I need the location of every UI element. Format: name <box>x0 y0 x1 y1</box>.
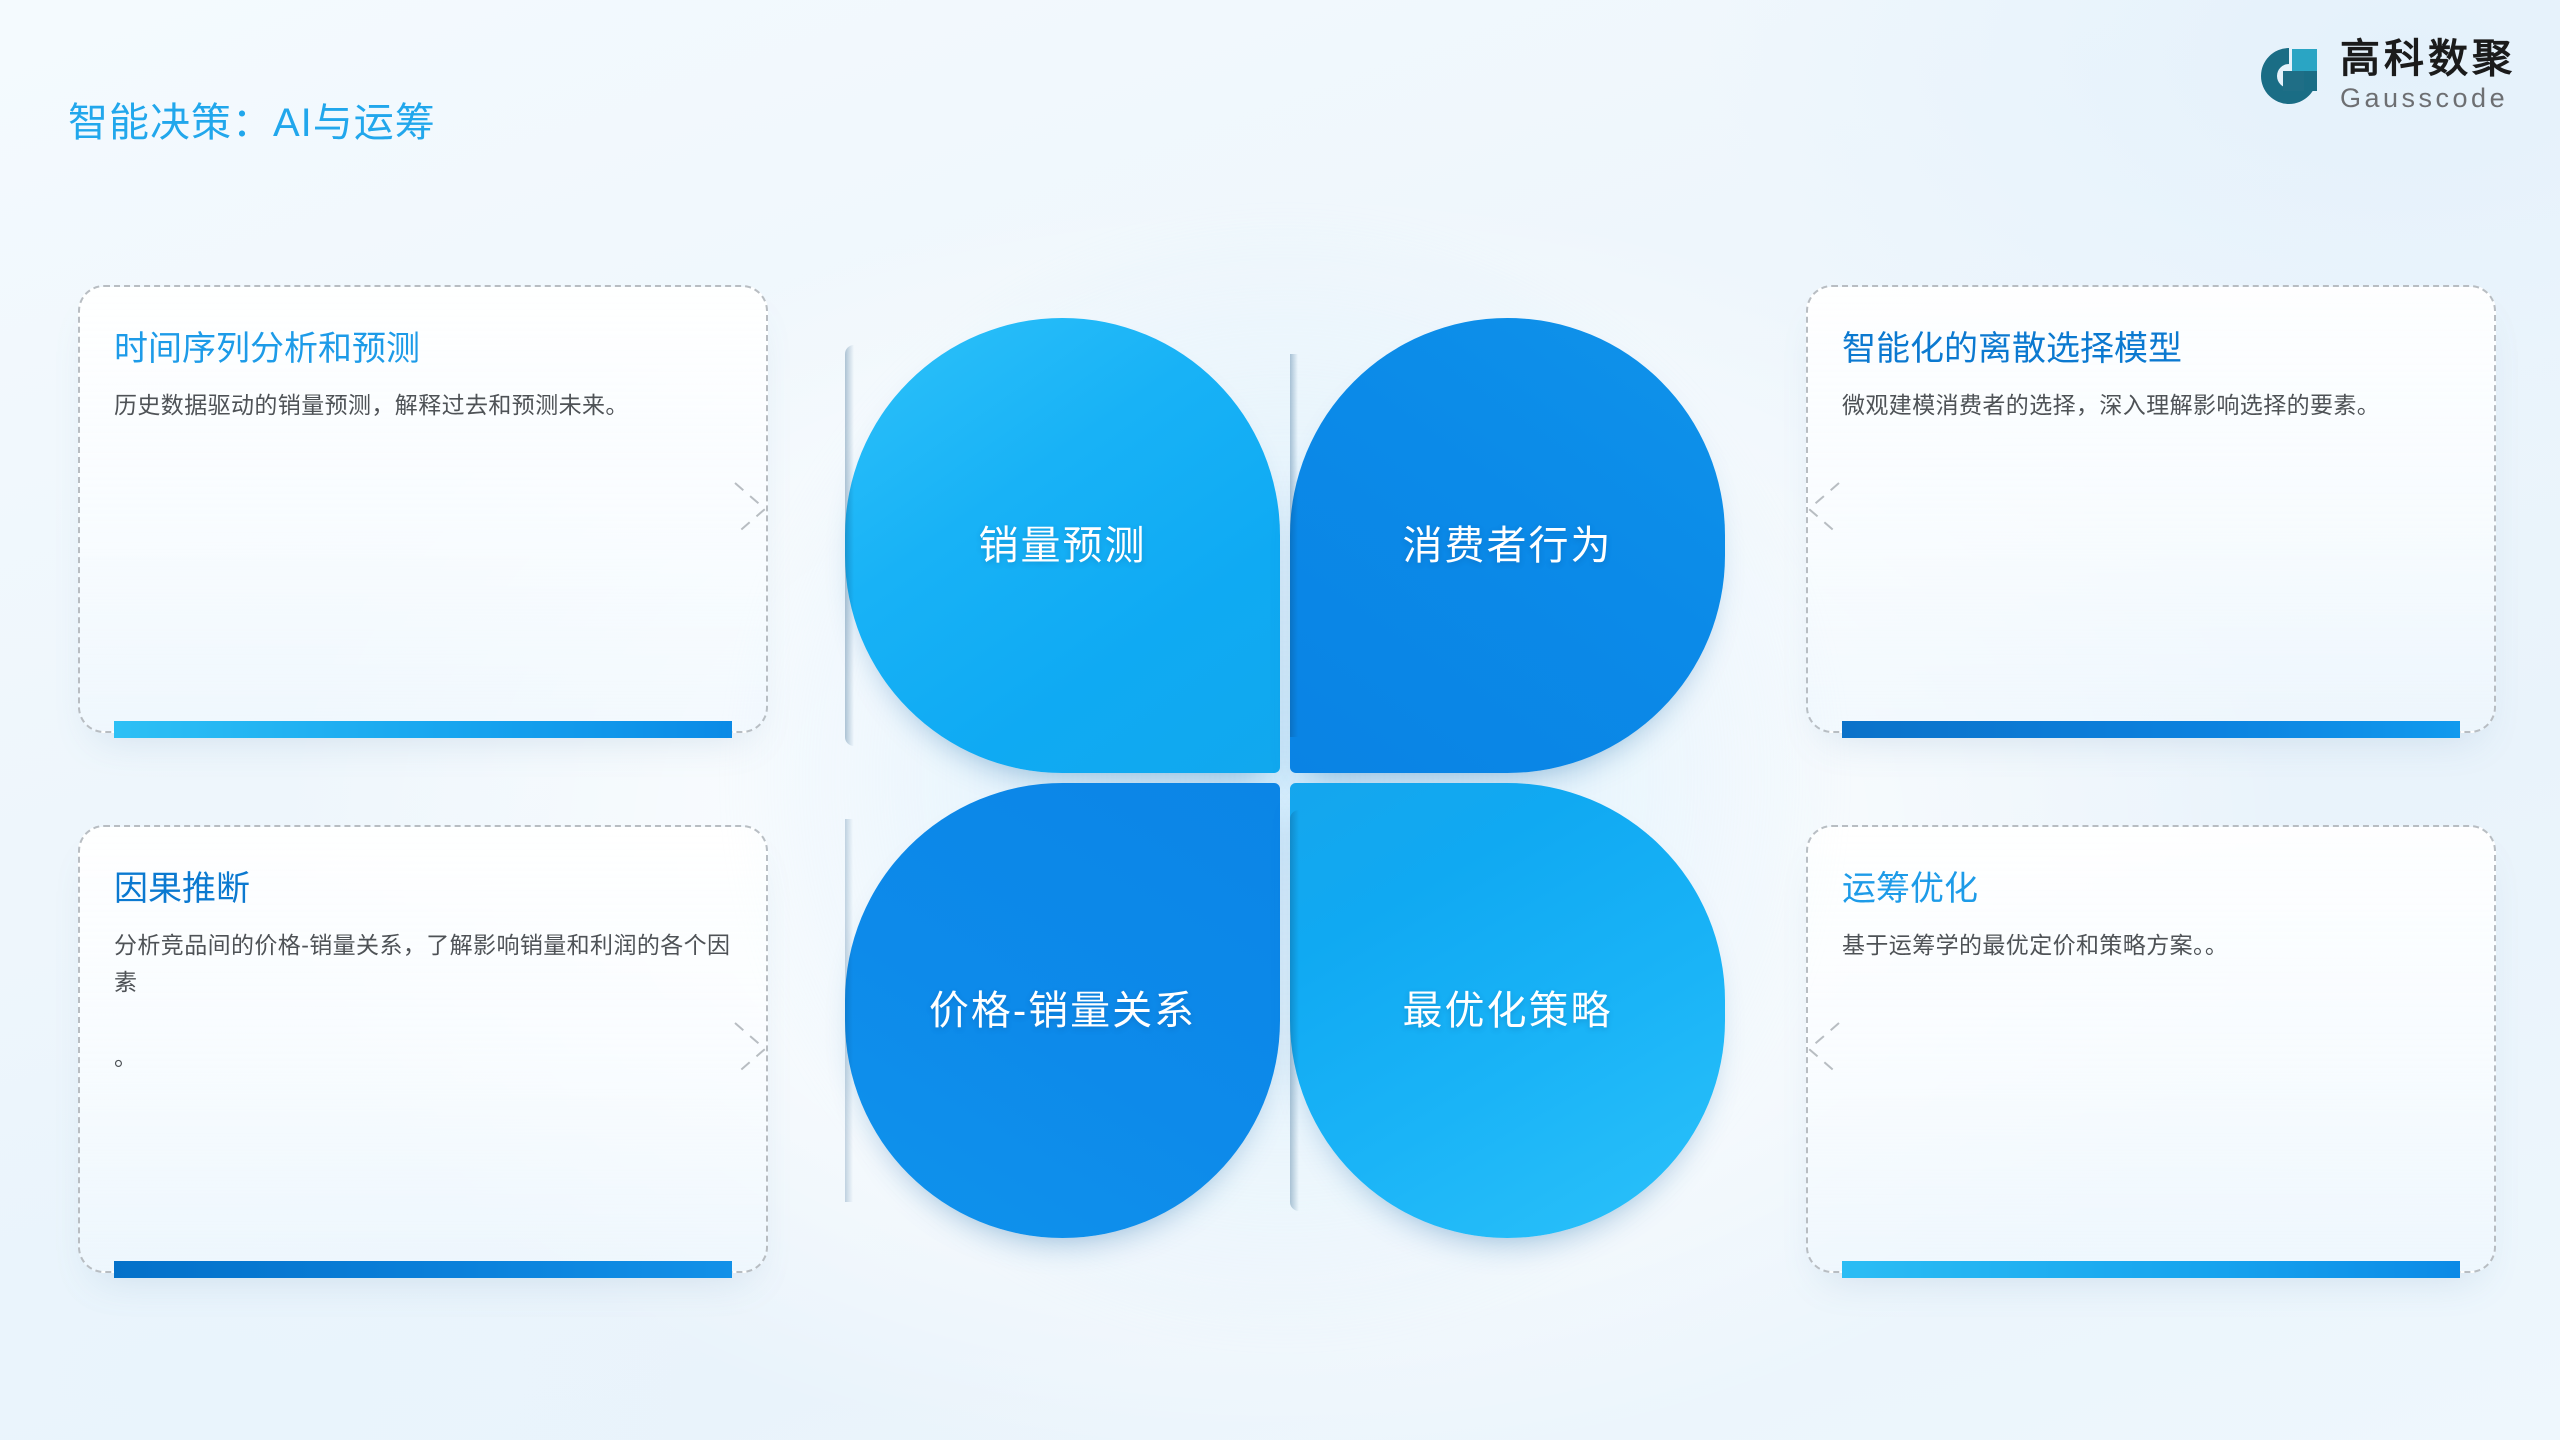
card-body: 分析竞品间的价格-销量关系，了解影响销量和利润的各个因素 。 <box>114 927 732 1076</box>
info-card-causal-inference[interactable]: 因果推断 分析竞品间的价格-销量关系，了解影响销量和利润的各个因素 。 <box>78 825 768 1273</box>
card-accent-bar <box>1842 721 2460 738</box>
petal-label: 消费者行为 <box>1403 522 1613 570</box>
card-accent-bar <box>1842 1261 2460 1278</box>
card-body: 基于运筹学的最优定价和策略方案。。 <box>1842 927 2460 964</box>
petal-label: 销量预测 <box>979 522 1147 570</box>
info-card-discrete-choice[interactable]: 智能化的离散选择模型 微观建模消费者的选择，深入理解影响选择的要素。 <box>1806 285 2496 733</box>
logo-english-name: Gausscode <box>2340 82 2508 114</box>
gausscode-logo-mark-icon <box>2256 43 2322 109</box>
card-body: 历史数据驱动的销量预测，解释过去和预测未来。 <box>114 387 732 424</box>
card-title: 时间序列分析和预测 <box>114 327 732 371</box>
page-title: 智能决策：AI与运筹 <box>68 98 436 148</box>
petal-sales-forecast[interactable]: 销量预测 <box>845 318 1280 773</box>
brand-logo: 高科数聚 Gausscode <box>2256 38 2516 114</box>
card-content: 智能化的离散选择模型 微观建模消费者的选择，深入理解影响选择的要素。 <box>1842 327 2460 424</box>
petal-diagram: 销量预测 消费者行为 价格-销量关系 最优化策略 <box>845 318 1725 1238</box>
slide-canvas: 智能决策：AI与运筹 高科数聚 Gausscode 时间序列分析和预测 历史数据… <box>0 0 2560 1440</box>
card-body: 微观建模消费者的选择，深入理解影响选择的要素。 <box>1842 387 2460 424</box>
card-title: 因果推断 <box>114 867 732 911</box>
card-title: 运筹优化 <box>1842 867 2460 911</box>
logo-chinese-name: 高科数聚 <box>2340 38 2516 80</box>
petal-optimization-strategy[interactable]: 最优化策略 <box>1290 783 1725 1238</box>
petal-consumer-behavior[interactable]: 消费者行为 <box>1290 318 1725 773</box>
card-content: 运筹优化 基于运筹学的最优定价和策略方案。。 <box>1842 867 2460 964</box>
card-title: 智能化的离散选择模型 <box>1842 327 2460 371</box>
card-accent-bar <box>114 1261 732 1278</box>
card-content: 因果推断 分析竞品间的价格-销量关系，了解影响销量和利润的各个因素 。 <box>114 867 732 1076</box>
petal-price-volume-relation[interactable]: 价格-销量关系 <box>845 783 1280 1238</box>
info-card-time-series[interactable]: 时间序列分析和预测 历史数据驱动的销量预测，解释过去和预测未来。 <box>78 285 768 733</box>
card-content: 时间序列分析和预测 历史数据驱动的销量预测，解释过去和预测未来。 <box>114 327 732 424</box>
petal-label: 最优化策略 <box>1403 987 1613 1035</box>
info-card-operations-optimization[interactable]: 运筹优化 基于运筹学的最优定价和策略方案。。 <box>1806 825 2496 1273</box>
logo-text-block: 高科数聚 Gausscode <box>2340 38 2516 114</box>
card-accent-bar <box>114 721 732 738</box>
petal-label: 价格-销量关系 <box>929 987 1196 1035</box>
